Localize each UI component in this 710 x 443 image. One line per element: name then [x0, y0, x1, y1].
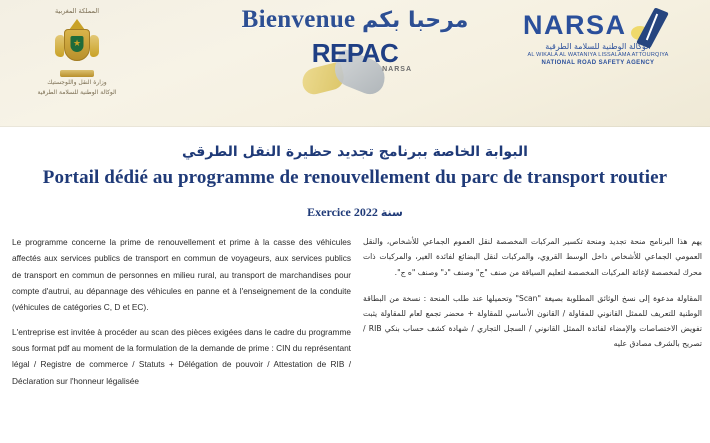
emblem-base-shape — [60, 70, 94, 77]
ministry-label-line1: وزارة النقل واللوجستيك — [18, 79, 136, 87]
titles-section: البوابة الخاصة ببرنامج تجديد حظيرة النقل… — [0, 127, 710, 220]
repac-logo: REPAC NARSA — [280, 38, 430, 96]
exercice-line: Exercice 2022 سنة — [0, 205, 710, 220]
narsa-wordmark-row: NARSA — [508, 10, 688, 41]
page-title-arabic: البوابة الخاصة ببرنامج تجديد حظيرة النقل… — [0, 143, 710, 161]
french-paragraph-1: Le programme concerne la prime de renouv… — [12, 234, 351, 315]
exercice-label-ar: سنة — [381, 206, 403, 219]
government-emblem-block: المملكة المغربية ★ وزارة النقل واللوجستي… — [18, 8, 136, 97]
welcome-text-fr: Bienvenue — [242, 6, 356, 33]
road-swoosh-icon — [631, 10, 673, 40]
exercice-label-fr: Exercice 2022 — [307, 205, 378, 219]
welcome-block: Bienvenue مرحبا بكم REPAC NARSA — [240, 6, 470, 96]
narsa-logo: NARSA الوكالة الوطنية للسلامة الطرقية AL… — [508, 10, 688, 66]
morocco-coat-of-arms-icon: ★ — [54, 19, 100, 77]
welcome-heading: Bienvenue مرحبا بكم — [240, 6, 470, 34]
arabic-paragraph-2: المقاولة مدعوة إلى نسخ الوثائق المطلوبة … — [363, 291, 702, 352]
narsa-transliteration: AL WIKALA AL WATANIYA LISSALAMA ATTOURQI… — [508, 52, 688, 59]
lion-left-shape — [55, 35, 64, 57]
french-paragraph-2: L'entreprise est invitée à procéder au s… — [12, 324, 351, 389]
lion-right-shape — [90, 35, 99, 57]
arabic-column: يهم هذا البرنامج منحة تجديد ومنحة تكسير … — [363, 234, 702, 398]
kingdom-label: المملكة المغربية — [18, 8, 136, 16]
ministry-label-line2: الوكالة الوطنية للسلامة الطرقية — [18, 89, 136, 97]
content-columns: Le programme concerne la prime de renouv… — [0, 220, 710, 398]
welcome-text-ar: مرحبا بكم — [362, 8, 468, 33]
repac-subtext: NARSA — [382, 66, 412, 73]
narsa-arabic-name: الوكالة الوطنية للسلامة الطرقية — [508, 42, 688, 52]
page-header: المملكة المغربية ★ وزارة النقل واللوجستي… — [0, 0, 710, 127]
pentagram-star-icon: ★ — [73, 39, 81, 48]
narsa-wordmark: NARSA — [523, 10, 627, 41]
portal-page: المملكة المغربية ★ وزارة النقل واللوجستي… — [0, 0, 710, 443]
arabic-paragraph-1: يهم هذا البرنامج منحة تجديد ومنحة تكسير … — [363, 234, 702, 280]
page-title-french: Portail dédié au programme de renouvelle… — [0, 167, 710, 189]
narsa-english-name: NATIONAL ROAD SAFETY AGENCY — [508, 60, 688, 66]
repac-wordmark: REPAC — [280, 38, 430, 69]
french-column: Le programme concerne la prime de renouv… — [12, 234, 351, 398]
